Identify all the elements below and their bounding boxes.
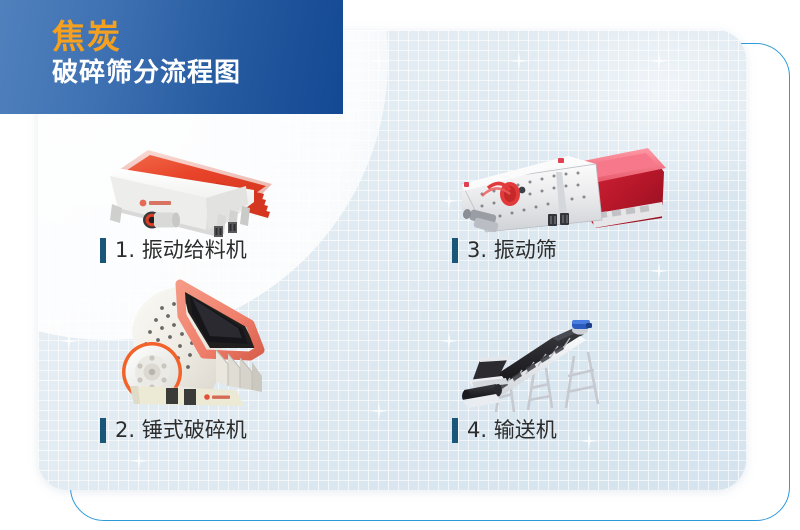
header-banner: 焦炭 破碎筛分流程图 bbox=[0, 0, 343, 114]
banner-title-sub: 破碎筛分流程图 bbox=[52, 57, 241, 89]
belt-conveyor-image bbox=[462, 282, 662, 412]
item-label-text: 1. 振动给料机 bbox=[115, 238, 247, 263]
hammer-crusher-image bbox=[104, 272, 284, 412]
flowchart-poster: 1. 振动给料机 bbox=[0, 0, 800, 530]
item-label-text: 4. 输送机 bbox=[467, 418, 557, 443]
vibrating-screen-image bbox=[452, 132, 672, 242]
item-label-2: 2. 锤式破碎机 bbox=[100, 418, 247, 443]
item-label-4: 4. 输送机 bbox=[452, 418, 557, 443]
item-label-3: 3. 振动筛 bbox=[452, 238, 557, 263]
label-accent-bar bbox=[100, 418, 106, 443]
label-accent-bar bbox=[452, 418, 458, 443]
item-label-text: 3. 振动筛 bbox=[467, 238, 557, 263]
banner-title-main: 焦炭 bbox=[52, 18, 122, 56]
item-label-1: 1. 振动给料机 bbox=[100, 238, 247, 263]
vibrating-feeder-image bbox=[96, 128, 286, 238]
label-accent-bar bbox=[100, 238, 106, 263]
item-label-text: 2. 锤式破碎机 bbox=[115, 418, 247, 443]
label-accent-bar bbox=[452, 238, 458, 263]
